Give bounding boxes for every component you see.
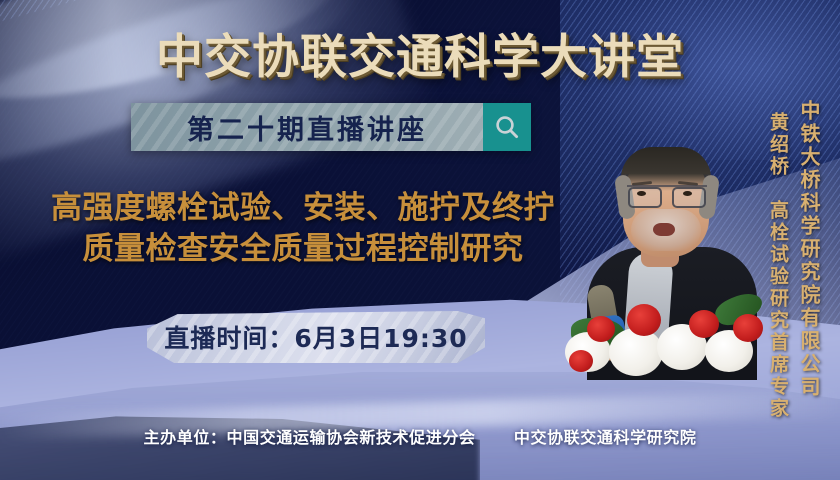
lecture-headline-line2: 质量检查安全质量过程控制研究: [8, 229, 598, 270]
glasses-lens-left: [628, 187, 662, 208]
bouquet-flower-red: [627, 304, 661, 336]
search-icon[interactable]: [483, 103, 531, 151]
organizer-secondary: 中交协联交通科学研究院: [514, 428, 697, 447]
broadcast-time-label: 直播时间：6月3日19:30: [164, 319, 467, 355]
page-title: 中交协联交通科学大讲堂: [0, 18, 840, 87]
portrait-eye-left: [637, 191, 646, 196]
portrait-mouth: [653, 223, 675, 236]
organizer-primary: 主办单位：中国交通运输协会新技术促进分会: [144, 428, 476, 447]
speaker-organization: 中铁大桥科学研究院有限公司: [795, 100, 824, 399]
bouquet-flower-white: [609, 328, 663, 376]
episode-banner-label: 第二十期直播讲座: [187, 108, 427, 147]
speaker-name-and-role: 黄绍桥 高栓试验研究首席专家: [765, 112, 792, 420]
bouquet-flower-red: [569, 350, 593, 372]
lecture-headline: 高强度螺栓试验、安装、施拧及终拧 质量检查安全质量过程控制研究: [8, 188, 598, 270]
episode-banner-body: 第二十期直播讲座: [131, 103, 483, 151]
portrait-eye-right: [683, 191, 692, 196]
episode-banner: 第二十期直播讲座: [131, 103, 531, 151]
bouquet-flower-red: [587, 316, 615, 342]
broadcast-time-badge: 直播时间：6月3日19:30: [147, 311, 485, 363]
lecture-headline-line1: 高强度螺栓试验、安装、施拧及终拧: [51, 190, 555, 226]
live-lecture-poster: 中交协联交通科学大讲堂 第二十期直播讲座 高强度螺栓试验、安装、施拧及终拧 质量…: [0, 0, 840, 480]
organizer-footer: 主办单位：中国交通运输协会新技术促进分会 中交协联交通科学研究院: [0, 424, 840, 448]
flower-bouquet: [565, 288, 780, 380]
bouquet-flower-red: [733, 314, 763, 342]
glasses-lens-right: [672, 187, 706, 208]
